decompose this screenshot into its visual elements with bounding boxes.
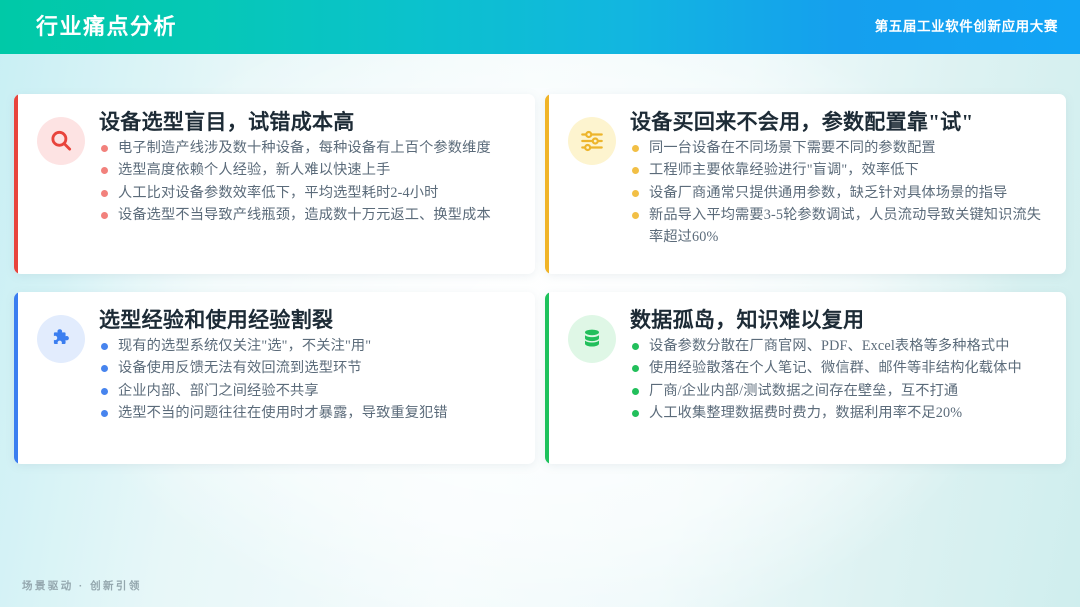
card-body: 设备选型盲目，试错成本高电子制造产线涉及数十种设备，每种设备有上百个参数维度选型… bbox=[99, 110, 519, 228]
card-bullet-list: 设备参数分散在厂商官网、PDF、Excel表格等多种格式中使用经验散落在个人笔记… bbox=[630, 336, 1050, 425]
card-bullet-item: 厂商/企业内部/测试数据之间存在壁垒，互不打通 bbox=[630, 381, 1050, 403]
card-accent-bar bbox=[545, 292, 549, 464]
card-bullet-list: 同一台设备在不同场景下需要不同的参数配置工程师主要依靠经验进行"盲调"，效率低下… bbox=[630, 138, 1050, 249]
slide-root: 行业痛点分析 第五届工业软件创新应用大赛 设备选型盲目，试错成本高电子制造产线涉… bbox=[0, 0, 1080, 607]
pain-point-card-grid: 设备选型盲目，试错成本高电子制造产线涉及数十种设备，每种设备有上百个参数维度选型… bbox=[14, 94, 1066, 464]
card-inner: 选型经验和使用经验割裂现有的选型系统仅关注"选"，不关注"用"设备使用反馈无法有… bbox=[30, 308, 519, 426]
card-bullet-item: 新品导入平均需要3-5轮参数调试，人员流动导致关键知识流失率超过60% bbox=[630, 205, 1050, 248]
card-accent-bar bbox=[545, 94, 549, 274]
footer-tagline: 场景驱动 · 创新引领 bbox=[22, 578, 142, 593]
card-title: 数据孤岛，知识难以复用 bbox=[630, 308, 1050, 334]
search-icon bbox=[37, 117, 85, 165]
card-bullet-item: 人工比对设备参数效率低下，平均选型耗时2-4小时 bbox=[99, 183, 519, 205]
card-inner: 设备买回来不会用，参数配置靠"试"同一台设备在不同场景下需要不同的参数配置工程师… bbox=[561, 110, 1050, 250]
card-body: 选型经验和使用经验割裂现有的选型系统仅关注"选"，不关注"用"设备使用反馈无法有… bbox=[99, 308, 519, 426]
card-accent-bar bbox=[14, 94, 18, 274]
card-inner: 设备选型盲目，试错成本高电子制造产线涉及数十种设备，每种设备有上百个参数维度选型… bbox=[30, 110, 519, 228]
card-bullet-item: 使用经验散落在个人笔记、微信群、邮件等非结构化载体中 bbox=[630, 358, 1050, 380]
card-body: 设备买回来不会用，参数配置靠"试"同一台设备在不同场景下需要不同的参数配置工程师… bbox=[630, 110, 1050, 250]
card-inner: 数据孤岛，知识难以复用 设备参数分散在厂商官网、PDF、Excel表格等多种格式… bbox=[561, 308, 1050, 426]
card-bullet-item: 设备选型不当导致产线瓶颈，造成数十万元返工、换型成本 bbox=[99, 205, 519, 227]
card-bullet-item: 设备使用反馈无法有效回流到选型环节 bbox=[99, 358, 519, 380]
puzzle-icon bbox=[37, 315, 85, 363]
pain-point-card-parameter-config-trial: 设备买回来不会用，参数配置靠"试"同一台设备在不同场景下需要不同的参数配置工程师… bbox=[545, 94, 1066, 274]
card-bullet-item: 现有的选型系统仅关注"选"，不关注"用" bbox=[99, 336, 519, 358]
card-bullet-item: 选型不当的问题往往在使用时才暴露，导致重复犯错 bbox=[99, 403, 519, 425]
card-bullet-item: 设备参数分散在厂商官网、PDF、Excel表格等多种格式中 bbox=[630, 336, 1050, 358]
pain-point-card-equipment-selection-blind: 设备选型盲目，试错成本高电子制造产线涉及数十种设备，每种设备有上百个参数维度选型… bbox=[14, 94, 535, 274]
card-bullet-item: 选型高度依赖个人经验，新人难以快速上手 bbox=[99, 160, 519, 182]
card-title: 选型经验和使用经验割裂 bbox=[99, 308, 519, 334]
sliders-icon bbox=[568, 117, 616, 165]
database-icon bbox=[568, 315, 616, 363]
pain-point-card-experience-fragmentation: 选型经验和使用经验割裂现有的选型系统仅关注"选"，不关注"用"设备使用反馈无法有… bbox=[14, 292, 535, 464]
card-accent-bar bbox=[14, 292, 18, 464]
card-title: 设备选型盲目，试错成本高 bbox=[99, 110, 519, 136]
card-title: 设备买回来不会用，参数配置靠"试" bbox=[630, 110, 1050, 136]
competition-label: 第五届工业软件创新应用大赛 bbox=[875, 20, 1058, 34]
card-body: 数据孤岛，知识难以复用 设备参数分散在厂商官网、PDF、Excel表格等多种格式… bbox=[630, 308, 1050, 426]
card-bullet-item: 同一台设备在不同场景下需要不同的参数配置 bbox=[630, 138, 1050, 160]
card-bullet-list: 现有的选型系统仅关注"选"，不关注"用"设备使用反馈无法有效回流到选型环节企业内… bbox=[99, 336, 519, 425]
pain-point-card-data-silo: 数据孤岛，知识难以复用 设备参数分散在厂商官网、PDF、Excel表格等多种格式… bbox=[545, 292, 1066, 464]
card-bullet-item: 企业内部、部门之间经验不共享 bbox=[99, 381, 519, 403]
card-bullet-item: 人工收集整理数据费时费力，数据利用率不足20% bbox=[630, 403, 1050, 425]
page-title: 行业痛点分析 bbox=[36, 16, 177, 38]
slide-header: 行业痛点分析 第五届工业软件创新应用大赛 bbox=[0, 0, 1080, 54]
card-bullet-item: 设备厂商通常只提供通用参数，缺乏针对具体场景的指导 bbox=[630, 183, 1050, 205]
card-bullet-item: 工程师主要依靠经验进行"盲调"，效率低下 bbox=[630, 160, 1050, 182]
card-bullet-list: 电子制造产线涉及数十种设备，每种设备有上百个参数维度选型高度依赖个人经验，新人难… bbox=[99, 138, 519, 227]
card-bullet-item: 电子制造产线涉及数十种设备，每种设备有上百个参数维度 bbox=[99, 138, 519, 160]
